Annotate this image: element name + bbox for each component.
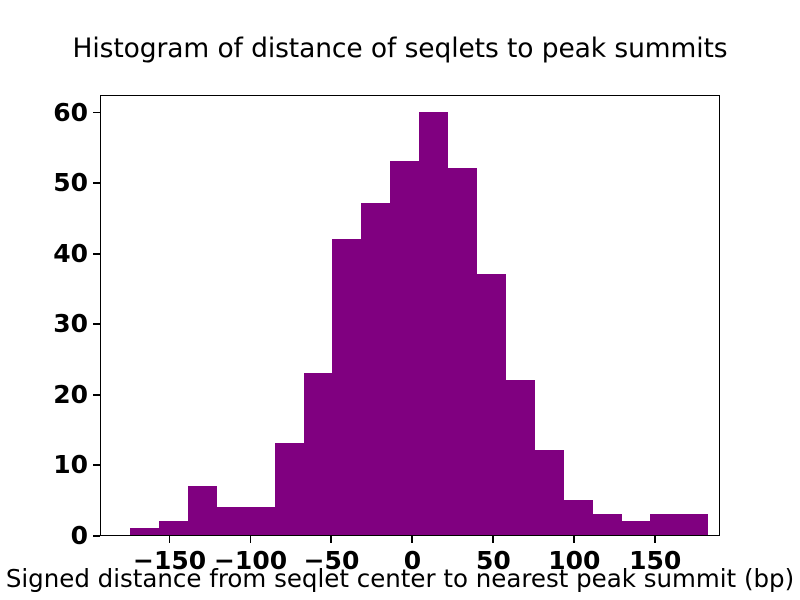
- y-axis: 0102030405060: [0, 0, 100, 600]
- histogram-bar: [304, 373, 333, 535]
- y-tick-label: 30: [53, 308, 88, 339]
- y-tick-label: 40: [53, 238, 88, 269]
- histogram-bar: [622, 521, 651, 535]
- y-tick-label: 20: [53, 379, 88, 410]
- histogram-bar: [564, 500, 593, 535]
- histogram-figure: Histogram of distance of seqlets to peak…: [0, 0, 800, 600]
- histogram-bar: [188, 486, 217, 535]
- y-tick-mark: [93, 394, 100, 396]
- x-tick-mark: [492, 536, 494, 543]
- histogram-bar: [390, 161, 419, 535]
- y-tick-mark: [93, 112, 100, 114]
- x-tick-mark: [330, 536, 332, 543]
- x-tick-mark: [250, 536, 252, 543]
- y-tick-label: 10: [53, 449, 88, 480]
- histogram-bar: [361, 203, 390, 535]
- x-tick-mark: [573, 536, 575, 543]
- chart-title: Histogram of distance of seqlets to peak…: [0, 33, 800, 64]
- histogram-bar: [448, 168, 477, 535]
- histogram-bar: [275, 443, 304, 535]
- y-tick-mark: [93, 253, 100, 255]
- histogram-bar: [419, 112, 448, 535]
- x-axis-label: Signed distance from seqlet center to ne…: [0, 564, 800, 593]
- y-tick-mark: [93, 182, 100, 184]
- histogram-bar: [217, 507, 246, 535]
- y-tick-mark: [93, 323, 100, 325]
- histogram-bar: [130, 528, 159, 535]
- histogram-bar: [506, 380, 535, 535]
- histogram-bar: [593, 514, 622, 535]
- plot-area: [100, 95, 720, 536]
- x-tick-mark: [654, 536, 656, 543]
- histogram-bar: [477, 274, 506, 535]
- histogram-bar: [535, 450, 564, 535]
- y-tick-label: 50: [53, 167, 88, 198]
- x-tick-mark: [411, 536, 413, 543]
- histogram-bar: [159, 521, 188, 535]
- x-tick-mark: [169, 536, 171, 543]
- y-tick-mark: [93, 464, 100, 466]
- histogram-bar: [332, 239, 361, 535]
- histogram-bar: [246, 507, 275, 535]
- bars-layer: [101, 96, 719, 535]
- histogram-bar: [679, 514, 708, 535]
- histogram-bar: [650, 514, 679, 535]
- y-tick-label: 60: [53, 97, 88, 128]
